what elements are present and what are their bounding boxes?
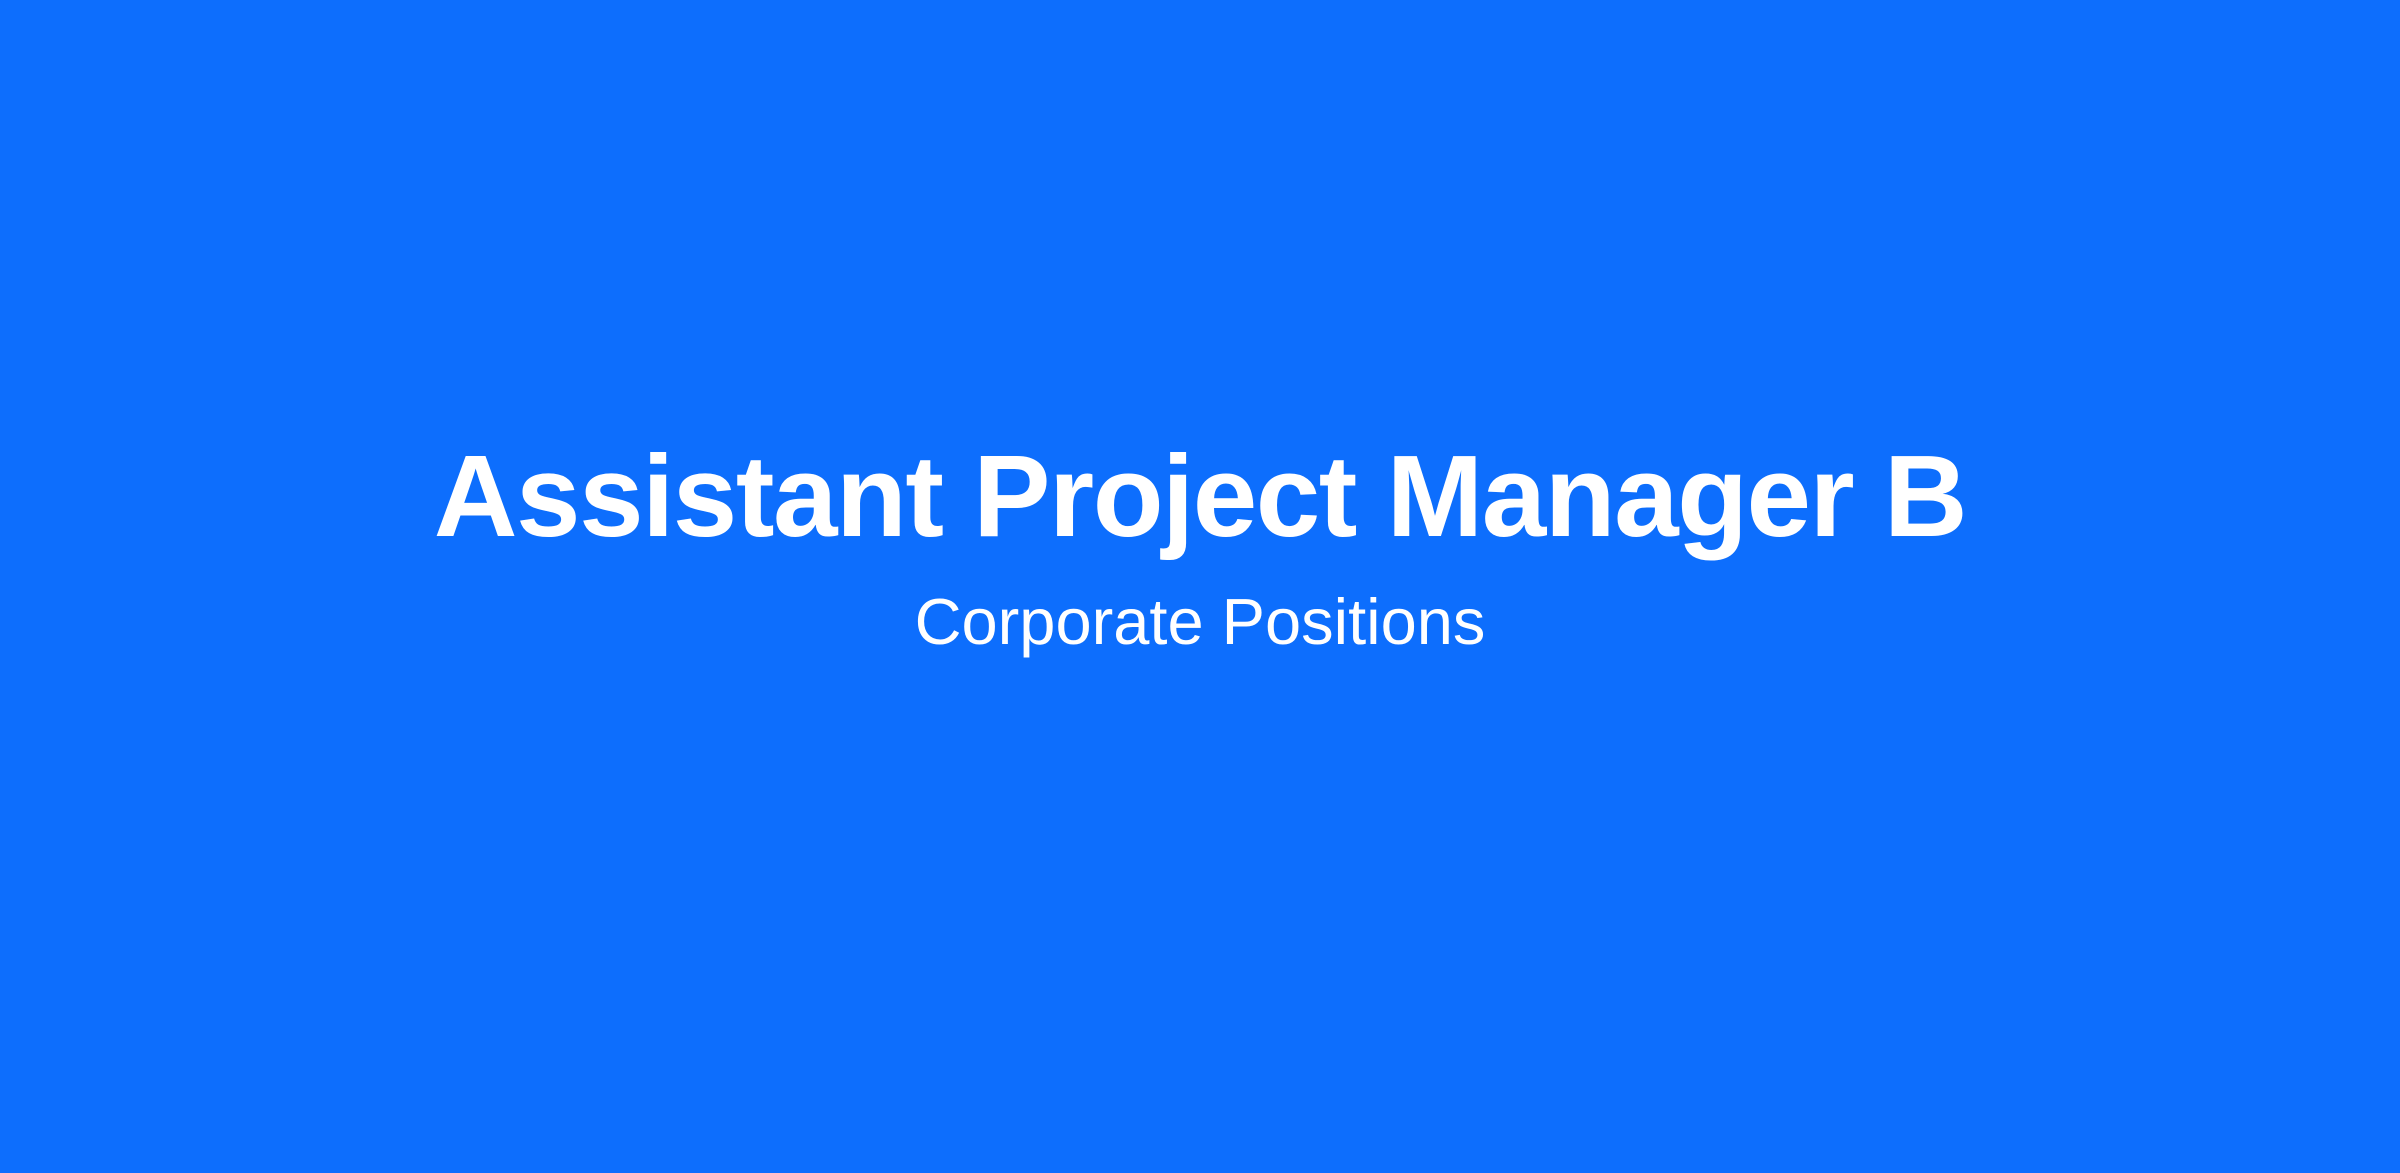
title-slide: Assistant Project Manager B Corporate Po… [0,0,2400,1173]
page-subtitle: Corporate Positions [120,583,2280,661]
title-block: Assistant Project Manager B Corporate Po… [0,432,2400,662]
page-title: Assistant Project Manager B [120,432,2280,562]
